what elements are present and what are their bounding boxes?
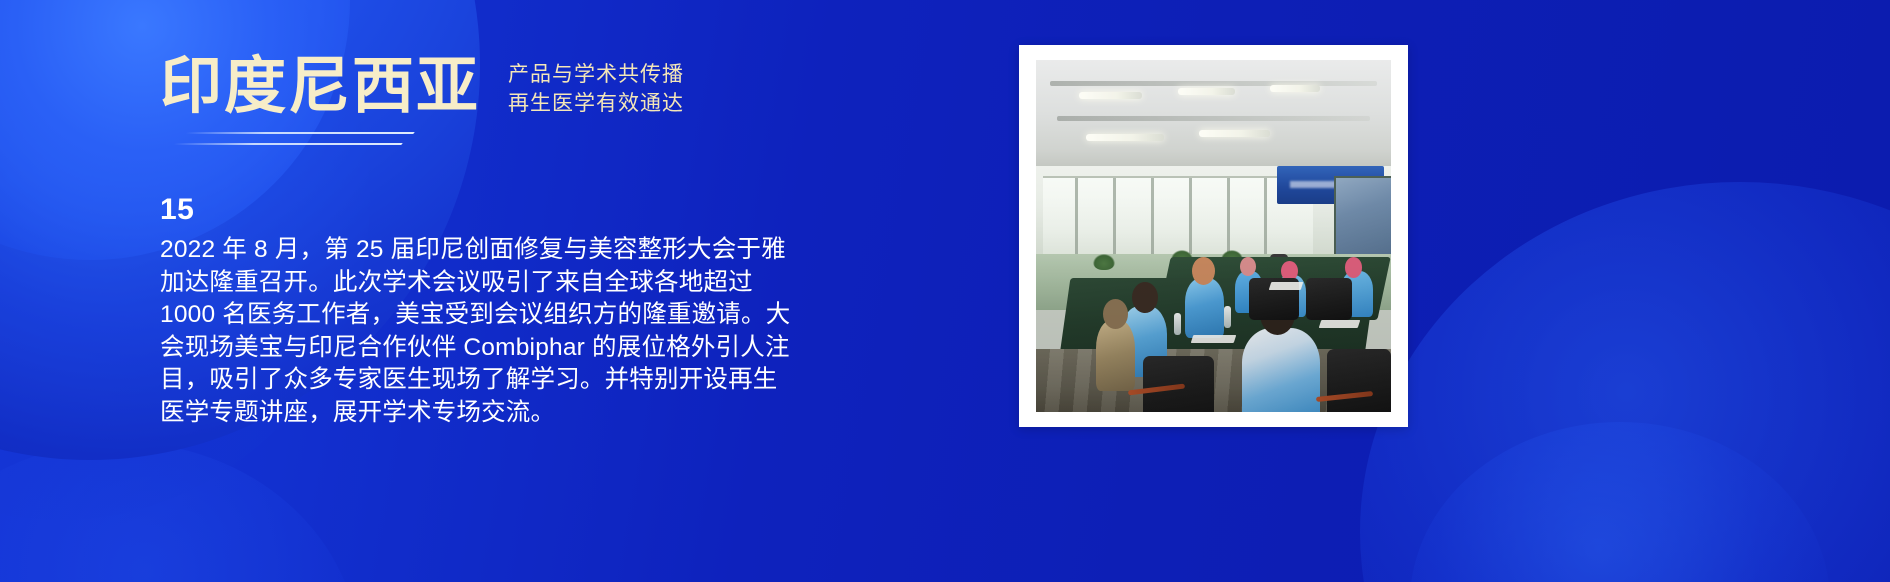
- paragraph-line: 2022 年 8 月，第 25 届印尼创面修复与美容整形大会于雅: [160, 234, 860, 267]
- photo-ceiling-beam: [1057, 116, 1369, 121]
- photo-ceiling-light: [1178, 88, 1235, 95]
- slide-header: 印度尼西亚 产品与学术共传播 再生医学有效通达: [0, 0, 1000, 170]
- photo-window-mullion: [1151, 178, 1154, 262]
- photo-window-mullion: [1264, 178, 1267, 262]
- slide-root: 印度尼西亚 产品与学术共传播 再生医学有效通达 15 2022 年 8 月，第 …: [0, 0, 1890, 582]
- photo-ceiling-light: [1086, 134, 1164, 141]
- photo-attendee: [1185, 278, 1224, 338]
- photo-water-bottle: [1224, 306, 1231, 328]
- photo-chair: [1306, 278, 1352, 320]
- conference-photo: [1036, 60, 1391, 412]
- photo-window-mullion: [1113, 178, 1116, 262]
- paragraph-line: 目，吸引了众多专家医生现场了解学习。并特别开设再生: [160, 364, 860, 397]
- photo-ceiling-light: [1199, 130, 1270, 137]
- photo-paper: [1319, 320, 1361, 328]
- photo-frame: [1019, 45, 1408, 427]
- photo-attendee-scarf: [1096, 320, 1135, 390]
- photo-window-mullion: [1075, 178, 1078, 262]
- photo-plant: [1093, 254, 1115, 270]
- photo-paper: [1269, 282, 1304, 290]
- body-paragraph: 2022 年 8 月，第 25 届印尼创面修复与美容整形大会于雅 加达隆重召开。…: [160, 234, 860, 429]
- photo-display-screen: [1334, 176, 1391, 257]
- photo-ceiling-light: [1270, 85, 1320, 92]
- photo-attendee-foreground: [1242, 328, 1320, 412]
- paragraph-line: 医学专题讲座，展开学术专场交流。: [160, 397, 860, 430]
- subtitle-line-1: 产品与学术共传播: [508, 60, 684, 89]
- item-number: 15: [160, 192, 860, 228]
- page-title: 印度尼西亚: [160, 56, 480, 118]
- photo-chair: [1327, 349, 1391, 412]
- paragraph-line: 加达隆重召开。此次学术会议吸引了来自全球各地超过: [160, 267, 860, 300]
- photo-window-mullion: [1189, 178, 1192, 262]
- photo-water-bottle: [1174, 313, 1181, 335]
- slide-subtitle: 产品与学术共传播 再生医学有效通达: [508, 60, 684, 118]
- photo-ceiling-light: [1079, 92, 1143, 99]
- paragraph-line: 1000 名医务工作者，美宝受到会议组织方的隆重邀请。大: [160, 299, 860, 332]
- paragraph-line: 会现场美宝与印尼合作伙伴 Combiphar 的展位格外引人注: [160, 332, 860, 365]
- subtitle-line-2: 再生医学有效通达: [508, 89, 684, 118]
- photo-paper: [1191, 335, 1236, 343]
- title-underline-decoration: [168, 130, 418, 154]
- title-rule-2: [173, 143, 403, 145]
- content-block: 15 2022 年 8 月，第 25 届印尼创面修复与美容整形大会于雅 加达隆重…: [160, 192, 860, 429]
- photo-ceiling-beam: [1050, 81, 1377, 86]
- photo-attendee-head-scarf: [1345, 257, 1362, 277]
- title-rule-1: [185, 132, 415, 134]
